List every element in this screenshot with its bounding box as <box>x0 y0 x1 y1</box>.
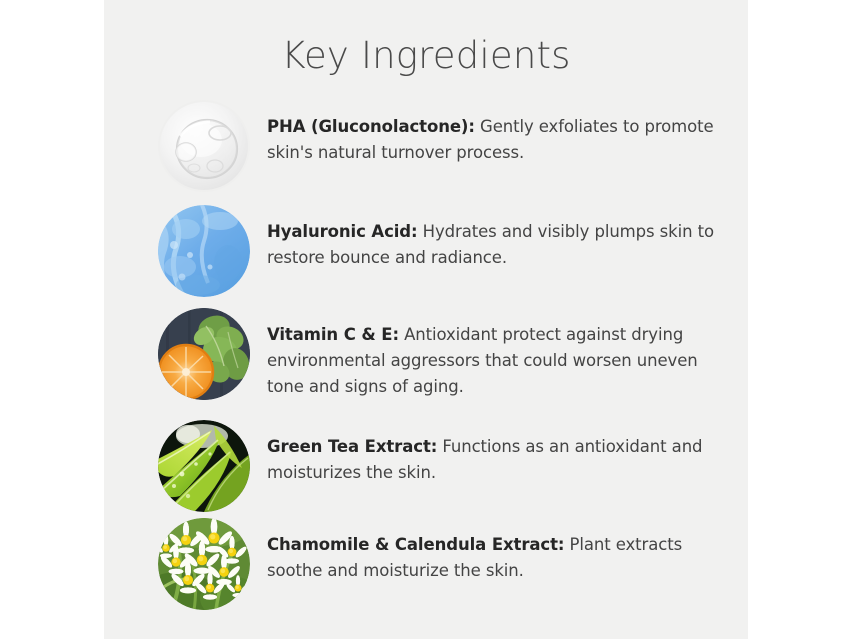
blue-water-icon <box>158 205 250 297</box>
gel-droplet-icon <box>158 100 250 192</box>
page-title: Key Ingredients <box>104 34 748 78</box>
ingredient-text: Green Tea Extract: Functions as an antio… <box>267 434 727 486</box>
ingredient-name: Hyaluronic Acid: <box>267 222 418 241</box>
chamomile-flowers-icon <box>158 518 250 610</box>
orange-citrus-leaves-icon <box>158 308 250 400</box>
ingredient-text: Hyaluronic Acid: Hydrates and visibly pl… <box>267 219 727 271</box>
ingredient-name: Green Tea Extract: <box>267 437 437 456</box>
ingredient-text: PHA (Gluconolactone): Gently exfoliates … <box>267 114 727 166</box>
content-panel: Key Ingredients <box>104 0 748 639</box>
ingredient-name: PHA (Gluconolactone): <box>267 117 475 136</box>
ingredient-name: Vitamin C & E: <box>267 325 399 344</box>
ingredient-infographic: Key Ingredients <box>0 0 852 639</box>
ingredient-text: Vitamin C & E: Antioxidant protect again… <box>267 322 727 400</box>
ingredient-text: Chamomile & Calendula Extract: Plant ext… <box>267 532 727 584</box>
green-tea-leaves-icon <box>158 420 250 512</box>
ingredient-name: Chamomile & Calendula Extract: <box>267 535 564 554</box>
